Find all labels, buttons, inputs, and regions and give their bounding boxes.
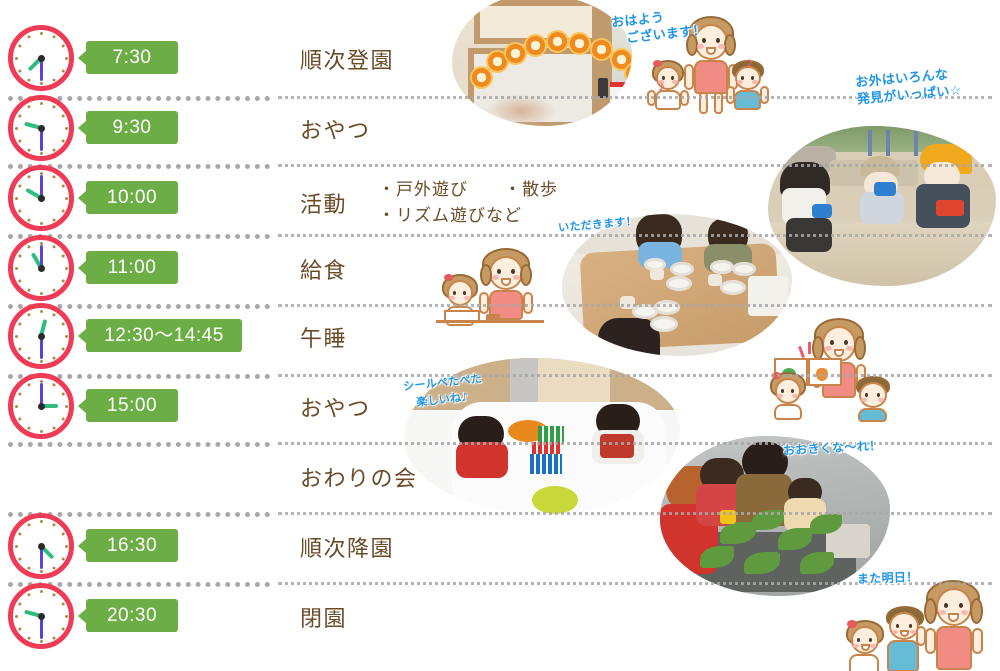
- clock-hour-marker: [40, 430, 43, 433]
- clock-hour-marker: [27, 356, 30, 359]
- clock-hour-marker: [18, 557, 21, 560]
- time-badge[interactable]: 16:30: [86, 529, 178, 562]
- clock-hour-marker: [40, 152, 43, 155]
- clock-hour-marker: [52, 245, 55, 248]
- clock-icon: [8, 95, 74, 161]
- time-badge[interactable]: 7:30: [86, 41, 178, 74]
- clock-hour-marker: [18, 44, 21, 47]
- clock-hour-marker: [18, 532, 21, 535]
- clock-hour-marker: [27, 148, 30, 151]
- clock-hour-marker: [40, 82, 43, 85]
- clock-hour-marker: [27, 218, 30, 221]
- clock-icon: [8, 513, 74, 579]
- clock-hour-marker: [18, 392, 21, 395]
- activity-label: おやつ: [300, 113, 371, 145]
- clock-center-pin: [38, 543, 45, 550]
- clock-hour-marker: [52, 313, 55, 316]
- clock-hour-marker: [40, 520, 43, 523]
- clock-hour-marker: [18, 347, 21, 350]
- schedule-row: 16:30 順次降園: [0, 513, 1000, 583]
- clock-hour-marker: [18, 69, 21, 72]
- clock-center-pin: [38, 195, 45, 202]
- clock-hour-marker: [27, 426, 30, 429]
- clock-hour-marker: [15, 267, 18, 270]
- activity-label: 午睡: [300, 321, 347, 353]
- time-badge[interactable]: 12:30〜14:45: [86, 319, 242, 352]
- clock-hour-marker: [18, 114, 21, 117]
- clock-hour-marker: [61, 139, 64, 142]
- clock-hour-marker: [40, 32, 43, 35]
- activity-label: 活動: [300, 187, 347, 219]
- clock-hour-marker: [15, 335, 18, 338]
- clock-hour-marker: [27, 523, 30, 526]
- clock-hour-marker: [61, 209, 64, 212]
- clock-hour-marker: [27, 288, 30, 291]
- clock-icon: [8, 583, 74, 649]
- clock-icon: [8, 373, 74, 439]
- schedule-row: 7:30 順次登園: [0, 25, 1000, 95]
- clock-hour-marker: [61, 69, 64, 72]
- clock-hour-marker: [61, 347, 64, 350]
- clock-hour-marker: [52, 383, 55, 386]
- schedule-row: 10:00 活動 ・戸外遊び ・散歩 ・リズム遊びなど: [0, 165, 1000, 235]
- daily-schedule-page: ♪ ♪: [0, 0, 1000, 671]
- clock-hour-marker: [40, 570, 43, 573]
- clock-hour-marker: [15, 57, 18, 60]
- clock-hour-marker: [18, 254, 21, 257]
- clock-hour-marker: [65, 197, 68, 200]
- activity-label: 順次登園: [300, 43, 394, 75]
- clock-center-pin: [38, 55, 45, 62]
- time-badge[interactable]: 15:00: [86, 389, 178, 422]
- clock-hour-marker: [65, 615, 68, 618]
- clock-hour-marker: [27, 566, 30, 569]
- clock-hour-marker: [52, 356, 55, 359]
- clock-hour-marker: [18, 184, 21, 187]
- clock-hour-marker: [18, 602, 21, 605]
- clock-hour-marker: [52, 78, 55, 81]
- clock-hour-marker: [27, 35, 30, 38]
- clock-icon: [8, 165, 74, 231]
- clock-hour-marker: [52, 636, 55, 639]
- schedule-row: 15:00 おやつ: [0, 373, 1000, 443]
- clock-hour-marker: [15, 197, 18, 200]
- clock-hour-marker: [65, 57, 68, 60]
- clock-hour-marker: [27, 78, 30, 81]
- clock-hour-marker: [52, 148, 55, 151]
- schedule-row: 9:30 おやつ: [0, 95, 1000, 165]
- note-seeyou: また明日！: [857, 569, 919, 588]
- clock-hour-marker: [61, 254, 64, 257]
- clock-hour-marker: [65, 335, 68, 338]
- clock-hour-marker: [18, 417, 21, 420]
- clock-hour-marker: [18, 209, 21, 212]
- clock-hour-marker: [52, 218, 55, 221]
- clock-hour-marker: [61, 532, 64, 535]
- clock-center-pin: [38, 265, 45, 272]
- clock-hour-marker: [18, 279, 21, 282]
- clock-hour-marker: [40, 222, 43, 225]
- clock-hour-marker: [61, 557, 64, 560]
- clock-icon: [8, 303, 74, 369]
- clock-hour-marker: [15, 615, 18, 618]
- clock-hour-marker: [61, 392, 64, 395]
- schedule-row: 20:30 閉園: [0, 583, 1000, 653]
- time-badge[interactable]: 10:00: [86, 181, 178, 214]
- clock-hour-marker: [18, 322, 21, 325]
- schedule-row: 12:30〜14:45 午睡: [0, 303, 1000, 373]
- schedule-row: 11:00 給食: [0, 235, 1000, 305]
- clock-hour-marker: [18, 139, 21, 142]
- clock-hour-marker: [15, 545, 18, 548]
- clock-center-pin: [38, 403, 45, 410]
- clock-hour-marker: [18, 627, 21, 630]
- clock-hour-marker: [61, 44, 64, 47]
- clock-hour-marker: [61, 279, 64, 282]
- clock-hour-marker: [52, 523, 55, 526]
- activity-detail: ・戸外遊び ・散歩 ・リズム遊びなど: [378, 177, 558, 229]
- activity-label: おやつ: [300, 391, 371, 423]
- clock-hour-marker: [61, 322, 64, 325]
- clock-hour-marker: [15, 405, 18, 408]
- clock-hour-marker: [65, 127, 68, 130]
- clock-hour-marker: [27, 175, 30, 178]
- clock-hour-marker: [40, 292, 43, 295]
- clock-hour-marker: [52, 593, 55, 596]
- clock-hour-marker: [52, 175, 55, 178]
- clock-hour-marker: [27, 245, 30, 248]
- clock-hour-marker: [27, 105, 30, 108]
- clock-hour-marker: [52, 105, 55, 108]
- clock-center-pin: [38, 333, 45, 340]
- clock-hour-marker: [52, 288, 55, 291]
- clock-hour-marker: [40, 590, 43, 593]
- clock-hour-marker: [40, 360, 43, 363]
- time-badge[interactable]: 9:30: [86, 111, 178, 144]
- clock-hour-marker: [27, 636, 30, 639]
- clock-hour-marker: [40, 102, 43, 105]
- clock-hour-marker: [65, 545, 68, 548]
- clock-hour-marker: [52, 35, 55, 38]
- clock-hour-marker: [15, 127, 18, 130]
- activity-label: 閉園: [300, 601, 347, 633]
- clock-hour-marker: [61, 417, 64, 420]
- time-badge[interactable]: 20:30: [86, 599, 178, 632]
- clock-icon: [8, 235, 74, 301]
- clock-hour-marker: [65, 405, 68, 408]
- clock-hour-marker: [27, 313, 30, 316]
- clock-hour-marker: [52, 426, 55, 429]
- clock-hour-marker: [40, 310, 43, 313]
- clock-icon: [8, 25, 74, 91]
- clock-center-pin: [38, 613, 45, 620]
- clock-hour-marker: [61, 184, 64, 187]
- clock-hour-marker: [61, 114, 64, 117]
- clock-hour-marker: [52, 566, 55, 569]
- clock-center-pin: [38, 125, 45, 132]
- clock-hour-marker: [40, 640, 43, 643]
- activity-label: おわりの会: [300, 461, 418, 493]
- clock-hour-marker: [61, 627, 64, 630]
- clock-hour-marker: [61, 602, 64, 605]
- activity-label: 給食: [300, 253, 347, 285]
- time-badge[interactable]: 11:00: [86, 251, 178, 284]
- clock-hour-marker: [27, 593, 30, 596]
- clock-hour-marker: [27, 383, 30, 386]
- activity-label: 順次降園: [300, 531, 394, 563]
- clock-hour-marker: [65, 267, 68, 270]
